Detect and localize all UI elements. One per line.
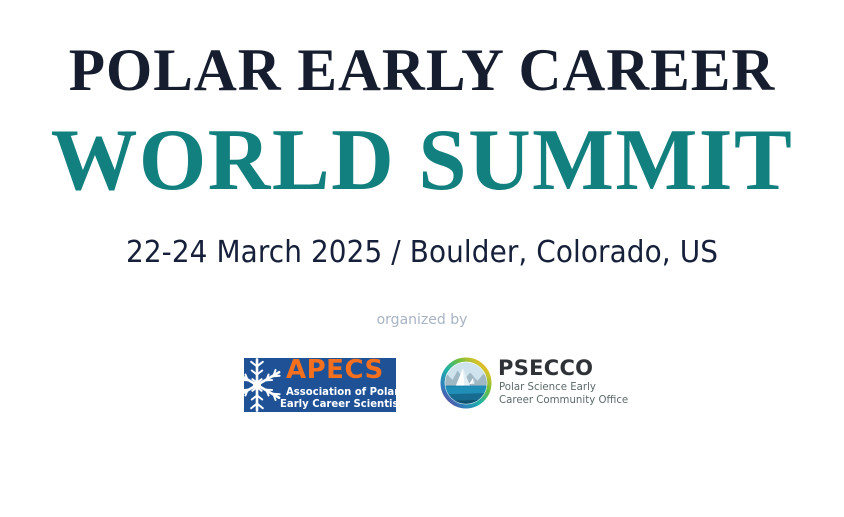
apecs-logo: APECS Association of Polar Early Career … (228, 354, 398, 414)
apecs-tagline-line-2: Early Career Scientists (280, 398, 409, 410)
event-dates-location: 22-24 March 2025 / Boulder, Colorado, US (30, 234, 815, 272)
organizer-logos-row: APECS Association of Polar Early Career … (0, 350, 844, 420)
psecco-logo: PSECCO Polar Science Early Career Commun… (440, 354, 625, 414)
poster-canvas: POLAR EARLY CAREER WORLD SUMMIT 22-24 Ma… (0, 0, 844, 517)
apecs-text-block: APECS Association of Polar Early Career … (286, 358, 396, 412)
page-title-line-1: POLAR EARLY CAREER (4, 40, 840, 100)
organized-by-label: organized by (0, 310, 844, 330)
psecco-tagline-line-1: Polar Science Early (499, 381, 596, 394)
psecco-text-block: PSECCO Polar Science Early Career Commun… (498, 357, 628, 409)
snowflake-icon (228, 356, 286, 414)
page-title-line-2: WORLD SUMMIT (6, 117, 837, 205)
apecs-acronym: APECS (286, 357, 384, 383)
iceberg-circle-icon (440, 357, 492, 409)
psecco-tagline-line-2: Career Community Office (499, 394, 628, 407)
apecs-tagline-line-1: Association of Polar (286, 386, 399, 398)
psecco-acronym: PSECCO (498, 357, 593, 379)
